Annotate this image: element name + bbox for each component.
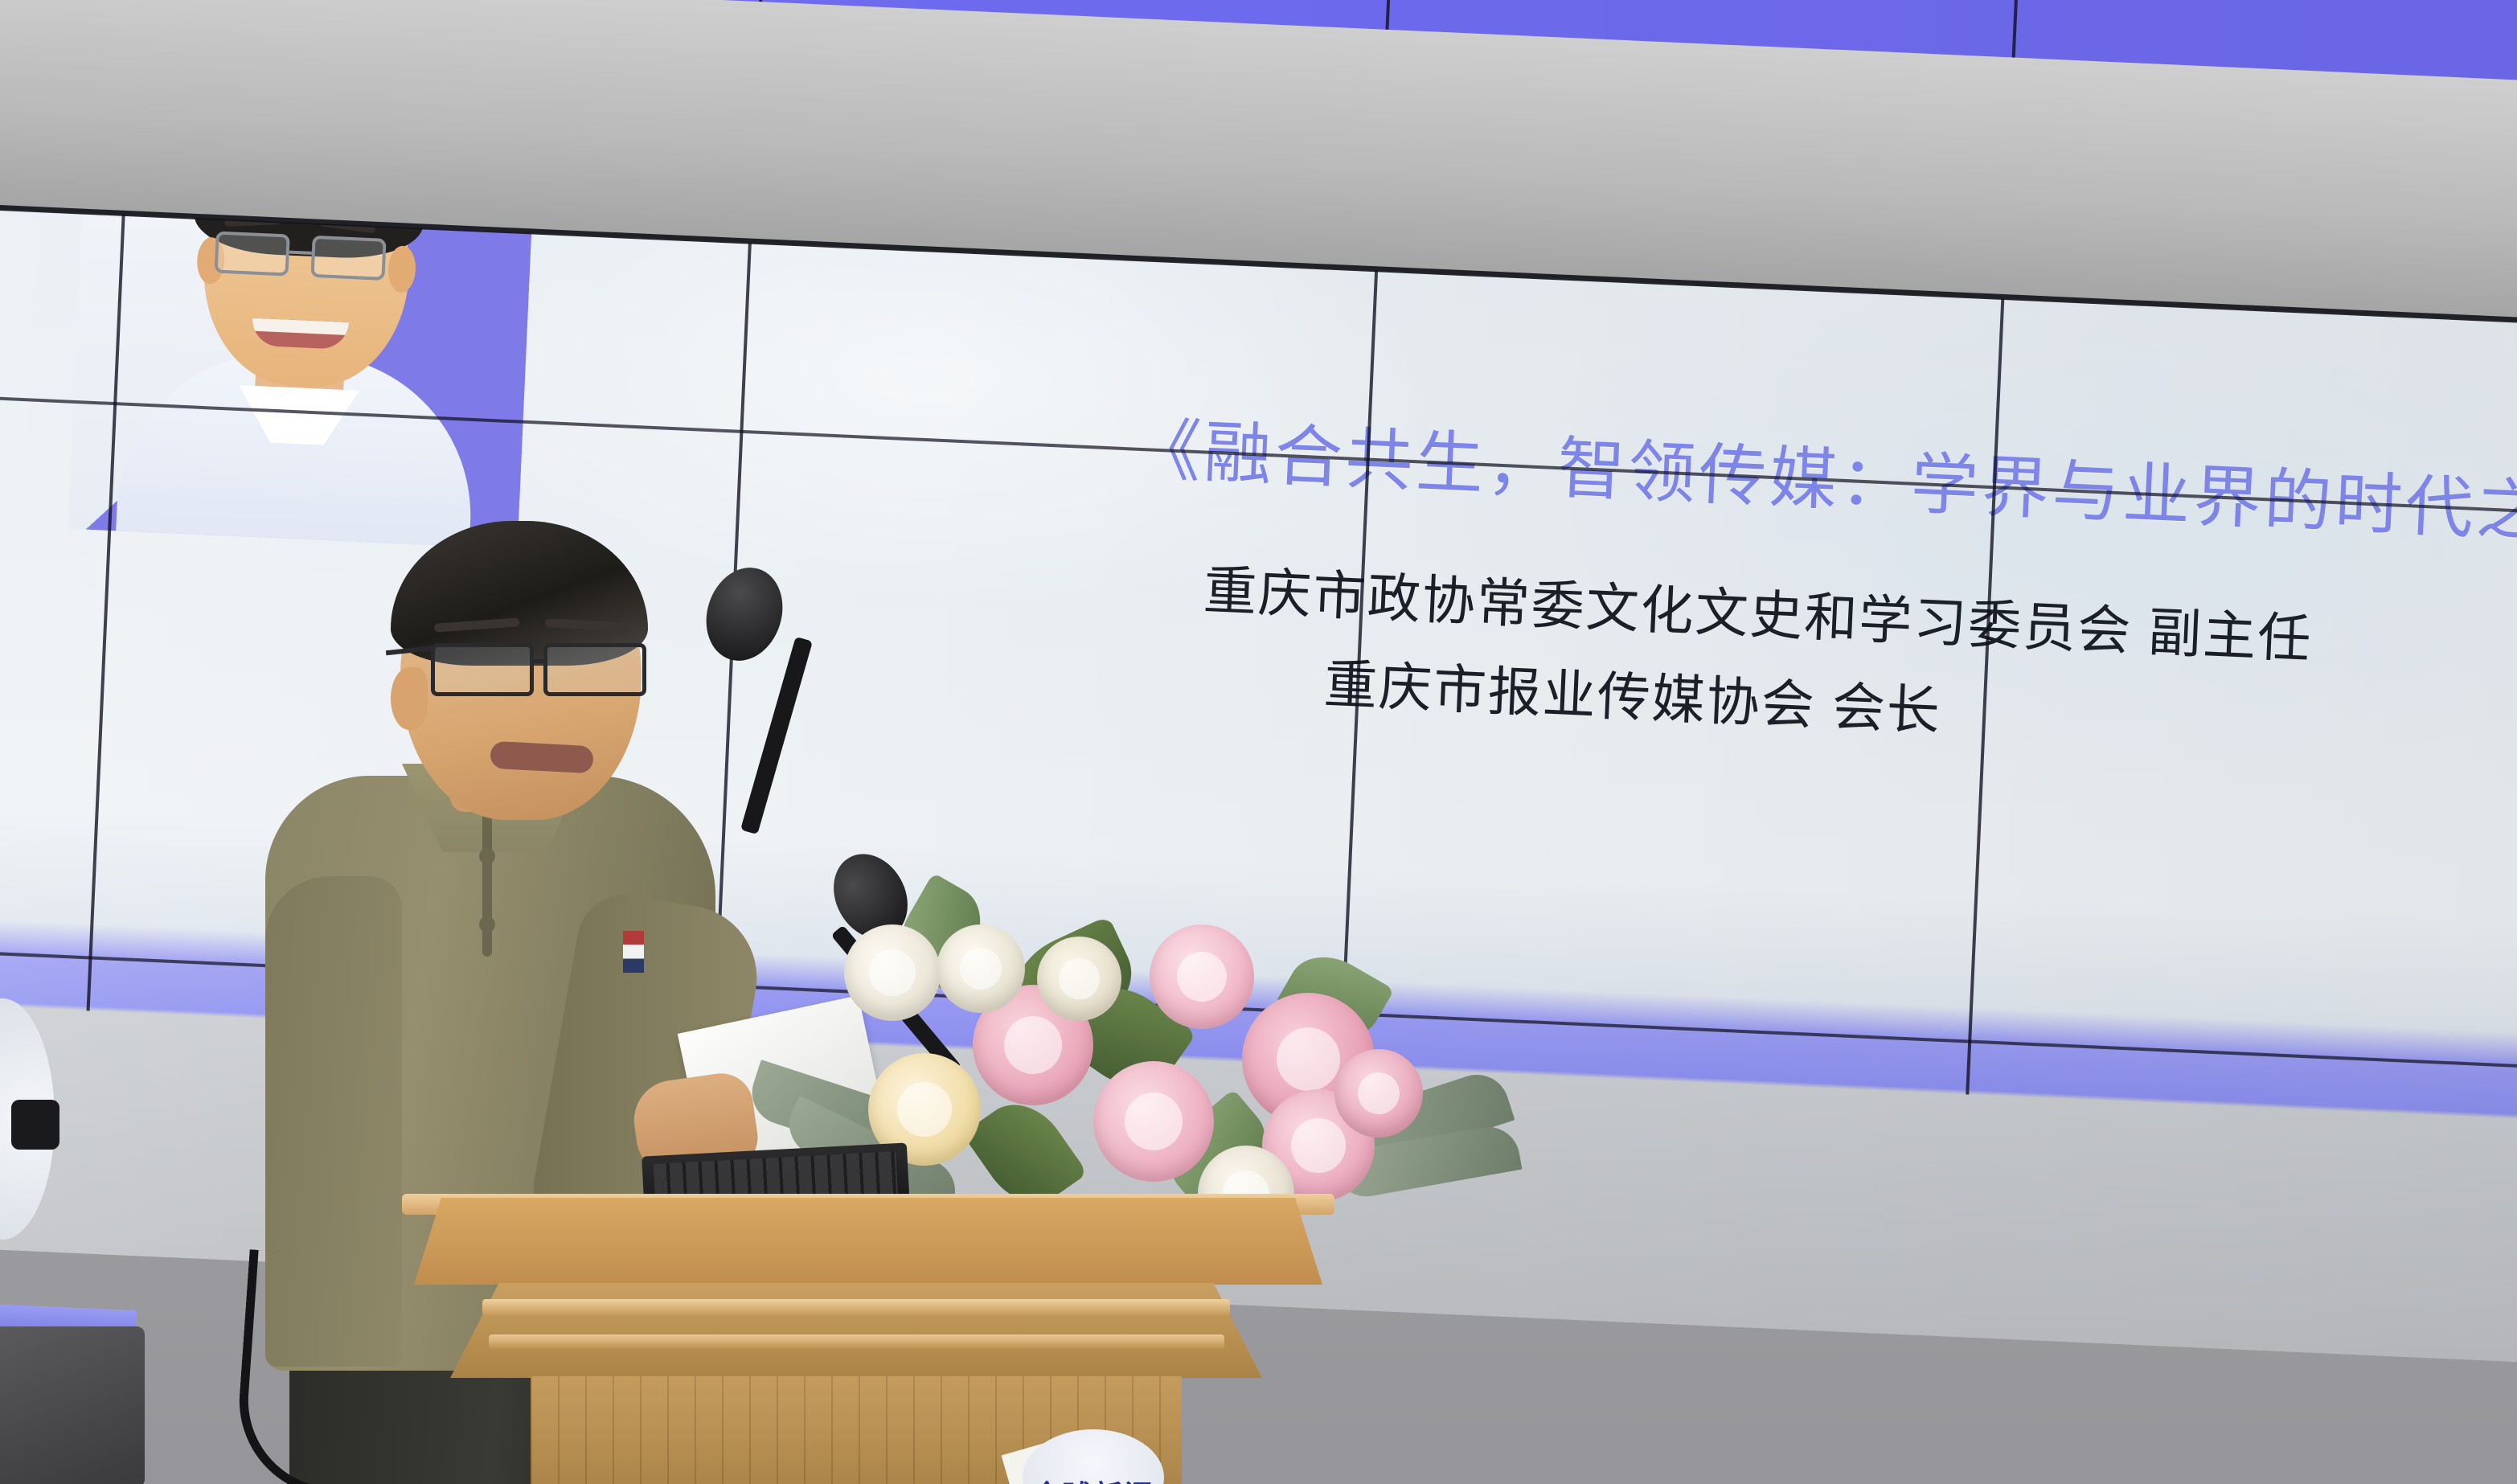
speaker-mouth <box>490 741 594 774</box>
speaker-shirt-logo <box>623 931 644 973</box>
studio-light-mount <box>11 1100 59 1150</box>
bouquet-bloom <box>1093 1061 1214 1182</box>
speaker-glasses-bridge <box>531 659 547 663</box>
microphone-cable <box>233 1249 394 1484</box>
podium-plaque-text: 全球新闻 <box>1023 1473 1164 1484</box>
podium-mid-panel <box>450 1283 1262 1378</box>
speaker-glasses-left <box>431 643 534 696</box>
bouquet-bloom <box>1150 924 1254 1029</box>
bouquet-bloom <box>937 924 1025 1013</box>
podium-trim-band-upper <box>482 1299 1230 1315</box>
screenshot-root: 发言人 泽阝 《融合共生，智领传媒：学界与业界的时代之约》 重庆市政协常委文化文… <box>0 0 2517 1484</box>
speaker-button <box>479 916 495 933</box>
speaker-glasses-right <box>543 643 646 696</box>
headshot-glasses-right <box>310 236 386 281</box>
speaker-button <box>479 848 495 864</box>
equipment-case <box>0 1326 145 1484</box>
bouquet-bloom <box>844 924 941 1021</box>
speaker-ear <box>391 667 428 730</box>
podium-trim-band-lower <box>489 1334 1224 1349</box>
headshot-glasses-left <box>215 232 290 277</box>
bouquet-bloom <box>1334 1049 1423 1138</box>
bouquet-bloom <box>1037 937 1121 1021</box>
speaker-placket <box>482 812 492 957</box>
podium-top-panel <box>414 1198 1322 1285</box>
